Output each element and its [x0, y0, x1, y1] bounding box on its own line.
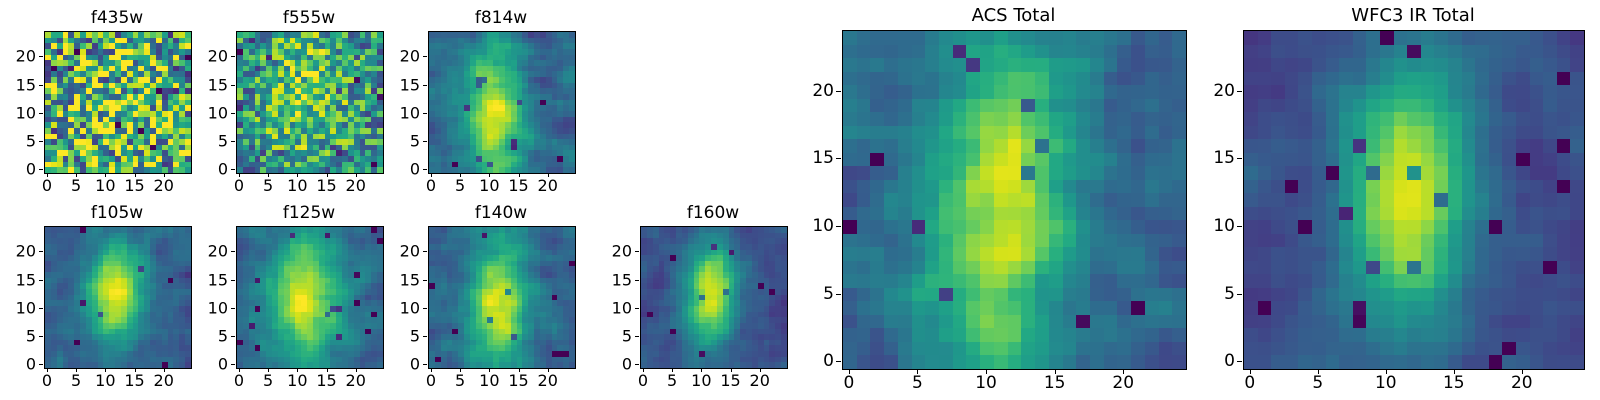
xtick-label-f105w-0: 0: [42, 371, 52, 390]
ytick-label-f125w-10: 10: [182, 298, 228, 317]
xtick-mark-wfc3-ir-total-0: [1250, 369, 1251, 374]
ytick-label-f160w-0: 0: [586, 355, 632, 374]
xtick-label-wfc3-ir-total-20: 20: [1511, 373, 1533, 393]
ytick-mark-f160w-10: [635, 308, 639, 309]
ytick-label-f814w-20: 20: [374, 47, 420, 66]
ytick-label-wfc3-ir-total-0: 0: [1189, 351, 1235, 371]
xtick-mark-f435w-5: [76, 173, 77, 177]
xtick-label-acs-total-20: 20: [1112, 373, 1134, 393]
xtick-mark-wfc3-ir-total-5: [1318, 369, 1319, 374]
xtick-label-f555w-20: 20: [346, 176, 366, 195]
ytick-label-f814w-0: 0: [374, 160, 420, 179]
ytick-mark-wfc3-ir-total-20: [1237, 91, 1242, 92]
ytick-mark-f435w-10: [39, 113, 43, 114]
xtick-mark-wfc3-ir-total-10: [1386, 369, 1387, 374]
ytick-label-f814w-5: 5: [374, 131, 420, 150]
ytick-mark-acs-total-20: [836, 91, 841, 92]
axes-f125w: [236, 226, 384, 369]
xtick-label-f140w-0: 0: [426, 371, 436, 390]
ytick-label-f105w-0: 0: [0, 355, 36, 374]
xtick-mark-f105w-10: [105, 368, 106, 372]
xtick-label-f555w-5: 5: [263, 176, 273, 195]
ytick-label-f105w-15: 15: [0, 270, 36, 289]
ytick-mark-wfc3-ir-total-0: [1237, 361, 1242, 362]
xtick-mark-f160w-0: [643, 368, 644, 372]
heatmap-f555w: [237, 32, 383, 173]
panel-title-wfc3-ir-total: WFC3 IR Total: [1243, 5, 1583, 26]
ytick-label-f105w-5: 5: [0, 326, 36, 345]
xtick-mark-f140w-10: [489, 368, 490, 372]
ytick-label-wfc3-ir-total-5: 5: [1189, 284, 1235, 304]
xtick-mark-f435w-0: [47, 173, 48, 177]
ytick-mark-f555w-15: [231, 85, 235, 86]
ytick-mark-acs-total-10: [836, 226, 841, 227]
xtick-mark-acs-total-15: [1055, 369, 1056, 374]
xtick-label-wfc3-ir-total-5: 5: [1312, 373, 1323, 393]
xtick-label-acs-total-5: 5: [912, 373, 923, 393]
ytick-mark-f814w-5: [423, 141, 427, 142]
xtick-label-f435w-20: 20: [154, 176, 174, 195]
ytick-mark-f105w-5: [39, 336, 43, 337]
xtick-label-f125w-0: 0: [234, 371, 244, 390]
xtick-mark-f140w-0: [431, 368, 432, 372]
ytick-label-f435w-0: 0: [0, 160, 36, 179]
xtick-label-f160w-15: 15: [720, 371, 740, 390]
ytick-label-f435w-5: 5: [0, 131, 36, 150]
axes-f140w: [428, 226, 576, 369]
xtick-label-f125w-15: 15: [316, 371, 336, 390]
ytick-mark-f160w-20: [635, 251, 639, 252]
ytick-mark-f160w-0: [635, 364, 639, 365]
ytick-label-f105w-10: 10: [0, 298, 36, 317]
ytick-label-f814w-15: 15: [374, 75, 420, 94]
ytick-label-wfc3-ir-total-15: 15: [1189, 148, 1235, 168]
ytick-label-f125w-0: 0: [182, 355, 228, 374]
ytick-label-f555w-5: 5: [182, 131, 228, 150]
heatmap-f140w: [429, 227, 575, 368]
ytick-mark-f105w-0: [39, 364, 43, 365]
ytick-label-f125w-5: 5: [182, 326, 228, 345]
xtick-mark-f125w-10: [297, 368, 298, 372]
ytick-label-f125w-20: 20: [182, 242, 228, 261]
ytick-label-f435w-20: 20: [0, 47, 36, 66]
ytick-label-f555w-0: 0: [182, 160, 228, 179]
ytick-mark-f555w-5: [231, 141, 235, 142]
xtick-mark-f814w-0: [431, 173, 432, 177]
ytick-label-f555w-10: 10: [182, 103, 228, 122]
ytick-label-f555w-15: 15: [182, 75, 228, 94]
ytick-label-f140w-10: 10: [374, 298, 420, 317]
xtick-label-f555w-0: 0: [234, 176, 244, 195]
ytick-label-acs-total-15: 15: [788, 148, 834, 168]
ytick-mark-wfc3-ir-total-15: [1237, 158, 1242, 159]
ytick-mark-f435w-5: [39, 141, 43, 142]
ytick-mark-f125w-20: [231, 251, 235, 252]
axes-acs-total: [842, 30, 1187, 370]
ytick-label-acs-total-0: 0: [788, 351, 834, 371]
xtick-mark-f435w-10: [105, 173, 106, 177]
ytick-mark-f125w-5: [231, 336, 235, 337]
xtick-mark-acs-total-0: [849, 369, 850, 374]
xtick-label-f105w-10: 10: [95, 371, 115, 390]
ytick-mark-f555w-10: [231, 113, 235, 114]
xtick-label-f140w-20: 20: [538, 371, 558, 390]
xtick-label-f814w-15: 15: [508, 176, 528, 195]
ytick-mark-f140w-0: [423, 364, 427, 365]
axes-f814w: [428, 31, 576, 174]
ytick-label-f140w-20: 20: [374, 242, 420, 261]
xtick-mark-wfc3-ir-total-20: [1522, 369, 1523, 374]
ytick-label-wfc3-ir-total-10: 10: [1189, 216, 1235, 236]
xtick-mark-f105w-20: [164, 368, 165, 372]
heatmap-f105w: [45, 227, 191, 368]
xtick-mark-f435w-20: [164, 173, 165, 177]
ytick-label-f105w-20: 20: [0, 242, 36, 261]
ytick-mark-f125w-10: [231, 308, 235, 309]
ytick-mark-f160w-15: [635, 280, 639, 281]
ytick-label-f140w-15: 15: [374, 270, 420, 289]
heatmap-f435w: [45, 32, 191, 173]
ytick-mark-f814w-10: [423, 113, 427, 114]
xtick-mark-f160w-20: [760, 368, 761, 372]
panel-title-f125w: f125w: [236, 203, 382, 223]
xtick-label-wfc3-ir-total-10: 10: [1375, 373, 1397, 393]
ytick-label-f555w-20: 20: [182, 47, 228, 66]
axes-wfc3-ir-total: [1243, 30, 1585, 370]
xtick-mark-f555w-15: [327, 173, 328, 177]
ytick-mark-f814w-0: [423, 169, 427, 170]
xtick-label-acs-total-10: 10: [975, 373, 997, 393]
xtick-label-f125w-20: 20: [346, 371, 366, 390]
xtick-mark-f105w-15: [135, 368, 136, 372]
ytick-label-f140w-5: 5: [374, 326, 420, 345]
ytick-mark-f140w-15: [423, 280, 427, 281]
xtick-mark-f125w-5: [268, 368, 269, 372]
xtick-label-f160w-10: 10: [691, 371, 711, 390]
xtick-label-acs-total-15: 15: [1044, 373, 1066, 393]
heatmap-wfc3-ir-total: [1244, 31, 1584, 369]
xtick-label-f555w-10: 10: [287, 176, 307, 195]
ytick-mark-f435w-0: [39, 169, 43, 170]
ytick-label-acs-total-5: 5: [788, 284, 834, 304]
xtick-label-wfc3-ir-total-0: 0: [1244, 373, 1255, 393]
ytick-mark-f160w-5: [635, 336, 639, 337]
ytick-mark-wfc3-ir-total-10: [1237, 226, 1242, 227]
xtick-label-f140w-10: 10: [479, 371, 499, 390]
axes-f435w: [44, 31, 192, 174]
xtick-label-f140w-5: 5: [455, 371, 465, 390]
ytick-label-f814w-10: 10: [374, 103, 420, 122]
heatmap-f814w: [429, 32, 575, 173]
xtick-mark-f555w-5: [268, 173, 269, 177]
xtick-mark-acs-total-5: [917, 369, 918, 374]
ytick-label-f435w-15: 15: [0, 75, 36, 94]
xtick-mark-f814w-10: [489, 173, 490, 177]
panel-title-acs-total: ACS Total: [842, 5, 1185, 26]
xtick-mark-f105w-5: [76, 368, 77, 372]
ytick-label-f140w-0: 0: [374, 355, 420, 374]
xtick-label-f435w-10: 10: [95, 176, 115, 195]
xtick-label-f814w-0: 0: [426, 176, 436, 195]
xtick-label-acs-total-0: 0: [843, 373, 854, 393]
ytick-mark-f125w-15: [231, 280, 235, 281]
ytick-mark-acs-total-5: [836, 294, 841, 295]
panel-title-f435w: f435w: [44, 8, 190, 28]
ytick-mark-f814w-20: [423, 56, 427, 57]
xtick-mark-f555w-0: [239, 173, 240, 177]
xtick-label-wfc3-ir-total-15: 15: [1443, 373, 1465, 393]
xtick-mark-f140w-20: [548, 368, 549, 372]
xtick-mark-f160w-5: [672, 368, 673, 372]
ytick-mark-f140w-10: [423, 308, 427, 309]
heatmap-f125w: [237, 227, 383, 368]
ytick-mark-f105w-10: [39, 308, 43, 309]
xtick-mark-acs-total-10: [986, 369, 987, 374]
ytick-mark-f105w-20: [39, 251, 43, 252]
xtick-label-f814w-10: 10: [479, 176, 499, 195]
xtick-label-f160w-0: 0: [638, 371, 648, 390]
xtick-label-f555w-15: 15: [316, 176, 336, 195]
axes-f160w: [640, 226, 788, 369]
ytick-mark-acs-total-0: [836, 361, 841, 362]
xtick-label-f140w-15: 15: [508, 371, 528, 390]
xtick-mark-f555w-20: [356, 173, 357, 177]
xtick-mark-f160w-15: [731, 368, 732, 372]
xtick-label-f105w-15: 15: [124, 371, 144, 390]
xtick-mark-f814w-20: [548, 173, 549, 177]
xtick-mark-f555w-10: [297, 173, 298, 177]
panel-title-f814w: f814w: [428, 8, 574, 28]
ytick-label-f160w-5: 5: [586, 326, 632, 345]
ytick-mark-f435w-15: [39, 85, 43, 86]
xtick-label-f160w-5: 5: [667, 371, 677, 390]
xtick-mark-f814w-15: [519, 173, 520, 177]
xtick-mark-acs-total-20: [1123, 369, 1124, 374]
xtick-mark-f125w-15: [327, 368, 328, 372]
xtick-label-f435w-15: 15: [124, 176, 144, 195]
axes-f555w: [236, 31, 384, 174]
xtick-label-f125w-10: 10: [287, 371, 307, 390]
heatmap-f160w: [641, 227, 787, 368]
xtick-mark-f140w-5: [460, 368, 461, 372]
ytick-label-f435w-10: 10: [0, 103, 36, 122]
ytick-label-acs-total-10: 10: [788, 216, 834, 236]
ytick-mark-wfc3-ir-total-5: [1237, 294, 1242, 295]
ytick-label-wfc3-ir-total-20: 20: [1189, 81, 1235, 101]
ytick-mark-f105w-15: [39, 280, 43, 281]
xtick-label-f814w-5: 5: [455, 176, 465, 195]
xtick-mark-f125w-0: [239, 368, 240, 372]
xtick-mark-f160w-10: [701, 368, 702, 372]
xtick-label-f435w-0: 0: [42, 176, 52, 195]
xtick-mark-f435w-15: [135, 173, 136, 177]
xtick-label-f105w-5: 5: [71, 371, 81, 390]
panel-title-f160w: f160w: [640, 203, 786, 223]
xtick-label-f160w-20: 20: [750, 371, 770, 390]
axes-f105w: [44, 226, 192, 369]
xtick-label-f435w-5: 5: [71, 176, 81, 195]
xtick-mark-wfc3-ir-total-15: [1454, 369, 1455, 374]
ytick-mark-acs-total-15: [836, 158, 841, 159]
ytick-mark-f140w-5: [423, 336, 427, 337]
ytick-mark-f435w-20: [39, 56, 43, 57]
ytick-label-f125w-15: 15: [182, 270, 228, 289]
xtick-mark-f125w-20: [356, 368, 357, 372]
xtick-label-f814w-20: 20: [538, 176, 558, 195]
xtick-mark-f140w-15: [519, 368, 520, 372]
xtick-mark-f814w-5: [460, 173, 461, 177]
ytick-label-f160w-15: 15: [586, 270, 632, 289]
panel-title-f105w: f105w: [44, 203, 190, 223]
ytick-label-f160w-20: 20: [586, 242, 632, 261]
ytick-mark-f140w-20: [423, 251, 427, 252]
xtick-label-f105w-20: 20: [154, 371, 174, 390]
panel-title-f140w: f140w: [428, 203, 574, 223]
xtick-mark-f105w-0: [47, 368, 48, 372]
xtick-label-f125w-5: 5: [263, 371, 273, 390]
ytick-label-f160w-10: 10: [586, 298, 632, 317]
ytick-mark-f555w-0: [231, 169, 235, 170]
ytick-mark-f125w-0: [231, 364, 235, 365]
figure-canvas: f435w0510152005101520f555w05101520051015…: [0, 0, 1600, 400]
ytick-mark-f555w-20: [231, 56, 235, 57]
panel-title-f555w: f555w: [236, 8, 382, 28]
ytick-mark-f814w-15: [423, 85, 427, 86]
ytick-label-acs-total-20: 20: [788, 81, 834, 101]
heatmap-acs-total: [843, 31, 1186, 369]
